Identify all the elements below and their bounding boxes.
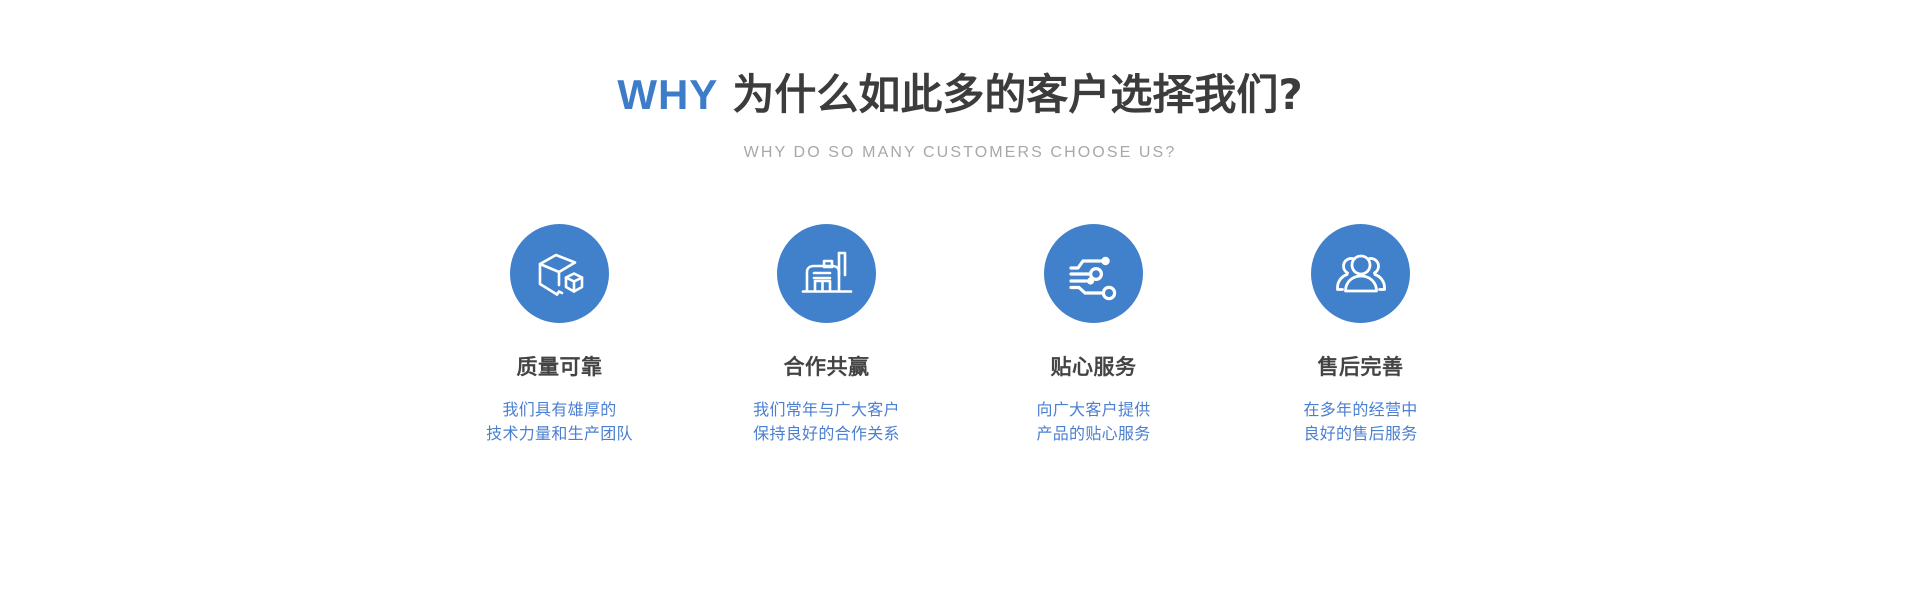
- circuit-network-icon: [1065, 245, 1123, 303]
- card-desc-line-1: 向广大客户提供: [1036, 398, 1150, 423]
- icon-circle-service: [1044, 224, 1143, 323]
- card-title-cooperation: 合作共赢: [784, 355, 870, 380]
- card-desc-line-1: 我们常年与广大客户: [753, 398, 900, 423]
- page-title: WHY为什么如此多的客户选择我们?: [0, 70, 1920, 120]
- card-desc-line-2: 良好的售后服务: [1303, 422, 1417, 447]
- why-choose-us-section: WHY为什么如此多的客户选择我们? WHY DO SO MANY CUSTOME…: [0, 0, 1920, 615]
- card-desc-line-1: 我们具有雄厚的: [486, 398, 633, 423]
- feature-card-cooperation[interactable]: 合作共赢 我们常年与广大客户 保持良好的合作关系: [693, 224, 960, 447]
- feature-cards-row: 质量可靠 我们具有雄厚的 技术力量和生产团队: [0, 224, 1920, 447]
- feature-card-quality[interactable]: 质量可靠 我们具有雄厚的 技术力量和生产团队: [426, 224, 693, 447]
- card-title-aftersales: 售后完善: [1318, 355, 1404, 380]
- package-box-icon: [530, 244, 590, 304]
- card-description-service: 向广大客户提供 产品的贴心服务: [1036, 398, 1150, 448]
- icon-circle-aftersales: [1311, 224, 1410, 323]
- users-group-icon: [1332, 245, 1390, 303]
- card-title-service: 贴心服务: [1051, 355, 1137, 380]
- heading-prefix-why: WHY: [617, 71, 718, 118]
- heading-subtitle: WHY DO SO MANY CUSTOMERS CHOOSE US?: [0, 144, 1920, 162]
- icon-circle-cooperation: [777, 224, 876, 323]
- card-description-aftersales: 在多年的经营中 良好的售后服务: [1303, 398, 1417, 448]
- card-description-cooperation: 我们常年与广大客户 保持良好的合作关系: [753, 398, 900, 448]
- card-desc-line-2: 保持良好的合作关系: [753, 422, 900, 447]
- heading-title-cn: 为什么如此多的客户选择我们?: [732, 70, 1302, 119]
- icon-circle-quality: [510, 224, 609, 323]
- card-description-quality: 我们具有雄厚的 技术力量和生产团队: [486, 398, 633, 448]
- card-title-quality: 质量可靠: [517, 355, 603, 380]
- feature-card-aftersales[interactable]: 售后完善 在多年的经营中 良好的售后服务: [1227, 224, 1494, 447]
- section-heading-block: WHY为什么如此多的客户选择我们? WHY DO SO MANY CUSTOME…: [0, 0, 1920, 162]
- card-desc-line-2: 技术力量和生产团队: [486, 422, 633, 447]
- card-desc-line-2: 产品的贴心服务: [1036, 422, 1150, 447]
- factory-icon: [798, 245, 856, 303]
- feature-card-service[interactable]: 贴心服务 向广大客户提供 产品的贴心服务: [960, 224, 1227, 447]
- card-desc-line-1: 在多年的经营中: [1303, 398, 1417, 423]
